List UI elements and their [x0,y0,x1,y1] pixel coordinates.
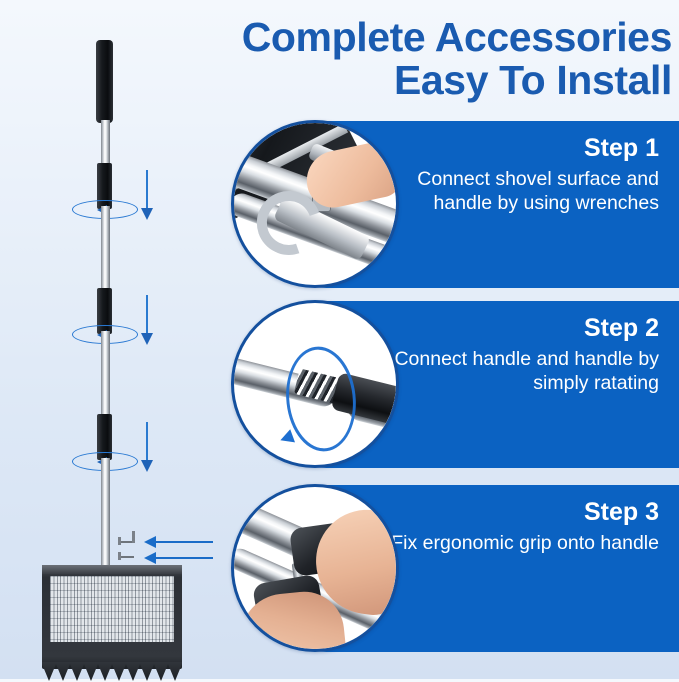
pole-section-middle-lower [101,331,110,416]
step-3-photo-circle [231,484,399,652]
insertion-arrow-3 [146,422,148,462]
rotation-arrowhead-icon [278,429,295,447]
wrench-tightening-shovel-head-photo [234,123,396,285]
shovel-head [42,565,182,669]
step-1-title: Step 1 [381,134,659,164]
shovel-head-mesh [50,576,174,642]
step-3-description: Fix ergonomic grip onto handle [381,531,659,556]
step-2-photo-circle [231,300,399,468]
step-2-text: Step 2 Connect handle and handle by simp… [381,314,659,396]
shovel-head-top-bar [42,565,182,574]
threaded-pole-coupling-photo [234,303,396,465]
mounting-washer-1 [118,537,121,545]
mounting-washer-2 [118,552,121,560]
infographic-canvas: Complete Accessories Easy To Install Ste… [0,0,679,679]
hardware-callout-arrow-1 [155,541,213,543]
step-3-title: Step 3 [381,498,659,528]
step-1-description: Connect shovel surface and handle by usi… [381,167,659,216]
hardware-callout-arrow-2 [155,557,213,559]
title-line-1: Complete Accessories [180,16,672,59]
step-3-text: Step 3 Fix ergonomic grip onto handle [381,498,659,555]
top-grip [96,40,113,123]
step-2-description: Connect handle and handle by simply rata… [381,347,659,396]
ergonomic-grip-clamp-photo [234,487,396,649]
title-line-2: Easy To Install [180,59,672,102]
step-1-text: Step 1 Connect shovel surface and handle… [381,134,659,216]
mounting-bolt-head-1 [132,531,135,543]
insertion-arrow-1 [146,170,148,210]
step-2-title: Step 2 [381,314,659,344]
pole-section-upper [101,120,110,165]
snow-shovel-exploded-assembly-diagram [0,0,232,679]
step-1-photo-circle [231,120,399,288]
pole-section-middle-upper [101,206,110,291]
page-title: Complete Accessories Easy To Install [180,16,672,101]
insertion-arrow-2 [146,295,148,335]
pole-section-lower [101,458,110,568]
mounting-bolt-2 [120,556,134,558]
